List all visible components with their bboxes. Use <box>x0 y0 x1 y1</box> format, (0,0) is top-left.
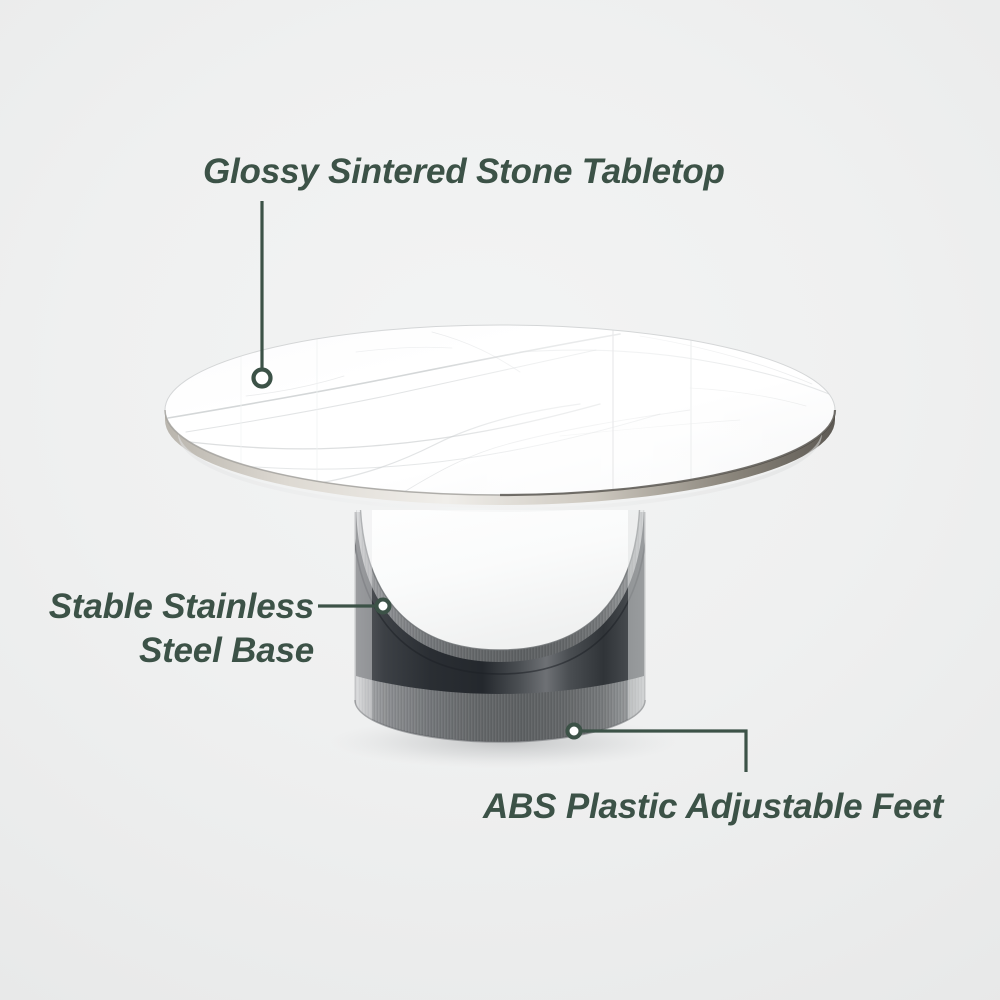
callout-label-tabletop: Glossy Sintered Stone Tabletop <box>203 150 725 194</box>
callout-label-base-line1: Stable Stainless <box>34 585 314 629</box>
stone-tabletop <box>165 325 835 512</box>
base-highlight-right <box>628 490 646 740</box>
callout-label-feet: ABS Plastic Adjustable Feet <box>483 785 943 829</box>
infographic-canvas: Glossy Sintered Stone Tabletop Stable St… <box>0 0 1000 1000</box>
callout-label-base-line2: Steel Base <box>34 629 314 673</box>
callout-label-base: Stable Stainless Steel Base <box>34 585 314 673</box>
base-highlight-left <box>356 490 372 740</box>
